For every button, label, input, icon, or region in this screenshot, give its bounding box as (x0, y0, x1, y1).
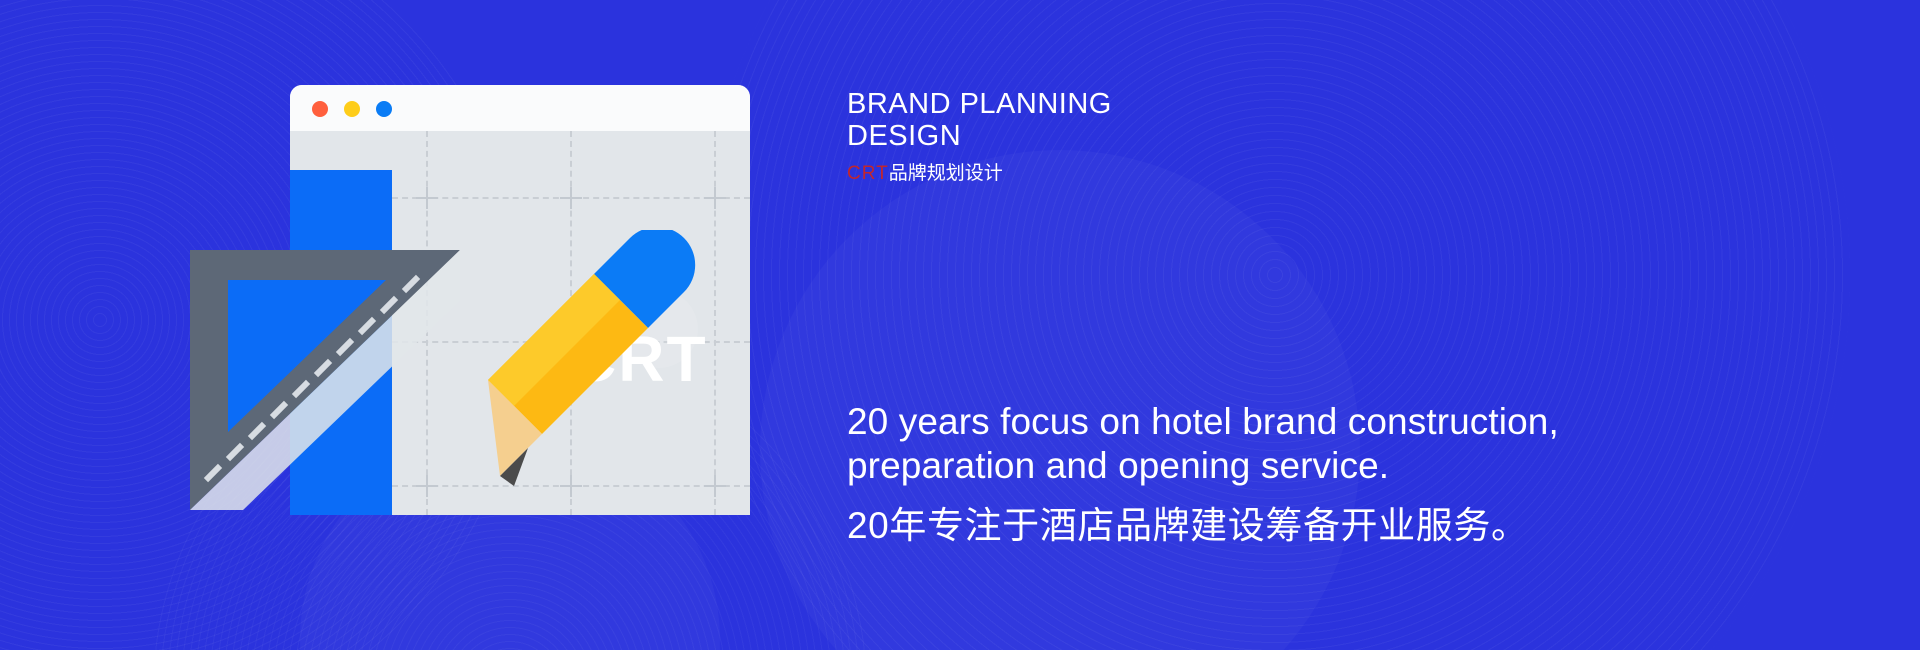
title-block: BRAND PLANNING DESIGN CRT品牌规划设计 (847, 88, 1487, 187)
headline-english: 20 years focus on hotel brand constructi… (847, 400, 1687, 487)
minimize-dot (344, 101, 360, 117)
title-subtitle-cn: 品牌规划设计 (889, 163, 1003, 184)
guide-crosshair (560, 187, 582, 209)
title-subtitle: CRT品牌规划设计 (847, 162, 1487, 187)
window-title-bar (290, 85, 750, 131)
brand-banner: CRT (0, 0, 1920, 650)
headline-block: 20 years focus on hotel brand constructi… (847, 400, 1687, 550)
guide-crosshair (704, 187, 726, 209)
triangle-ruler-icon (190, 250, 460, 510)
pencil-icon (480, 230, 700, 490)
close-dot (312, 101, 328, 117)
title-heading-en: BRAND PLANNING DESIGN (847, 88, 1487, 153)
brand-mark-crt: CRT (847, 163, 889, 184)
guide-crosshair (704, 475, 726, 497)
maximize-dot (376, 101, 392, 117)
guide-crosshair (416, 187, 438, 209)
headline-chinese: 20年专注于酒店品牌建设筹备开业服务。 (847, 503, 1687, 549)
brand-illustration: CRT (190, 60, 800, 560)
